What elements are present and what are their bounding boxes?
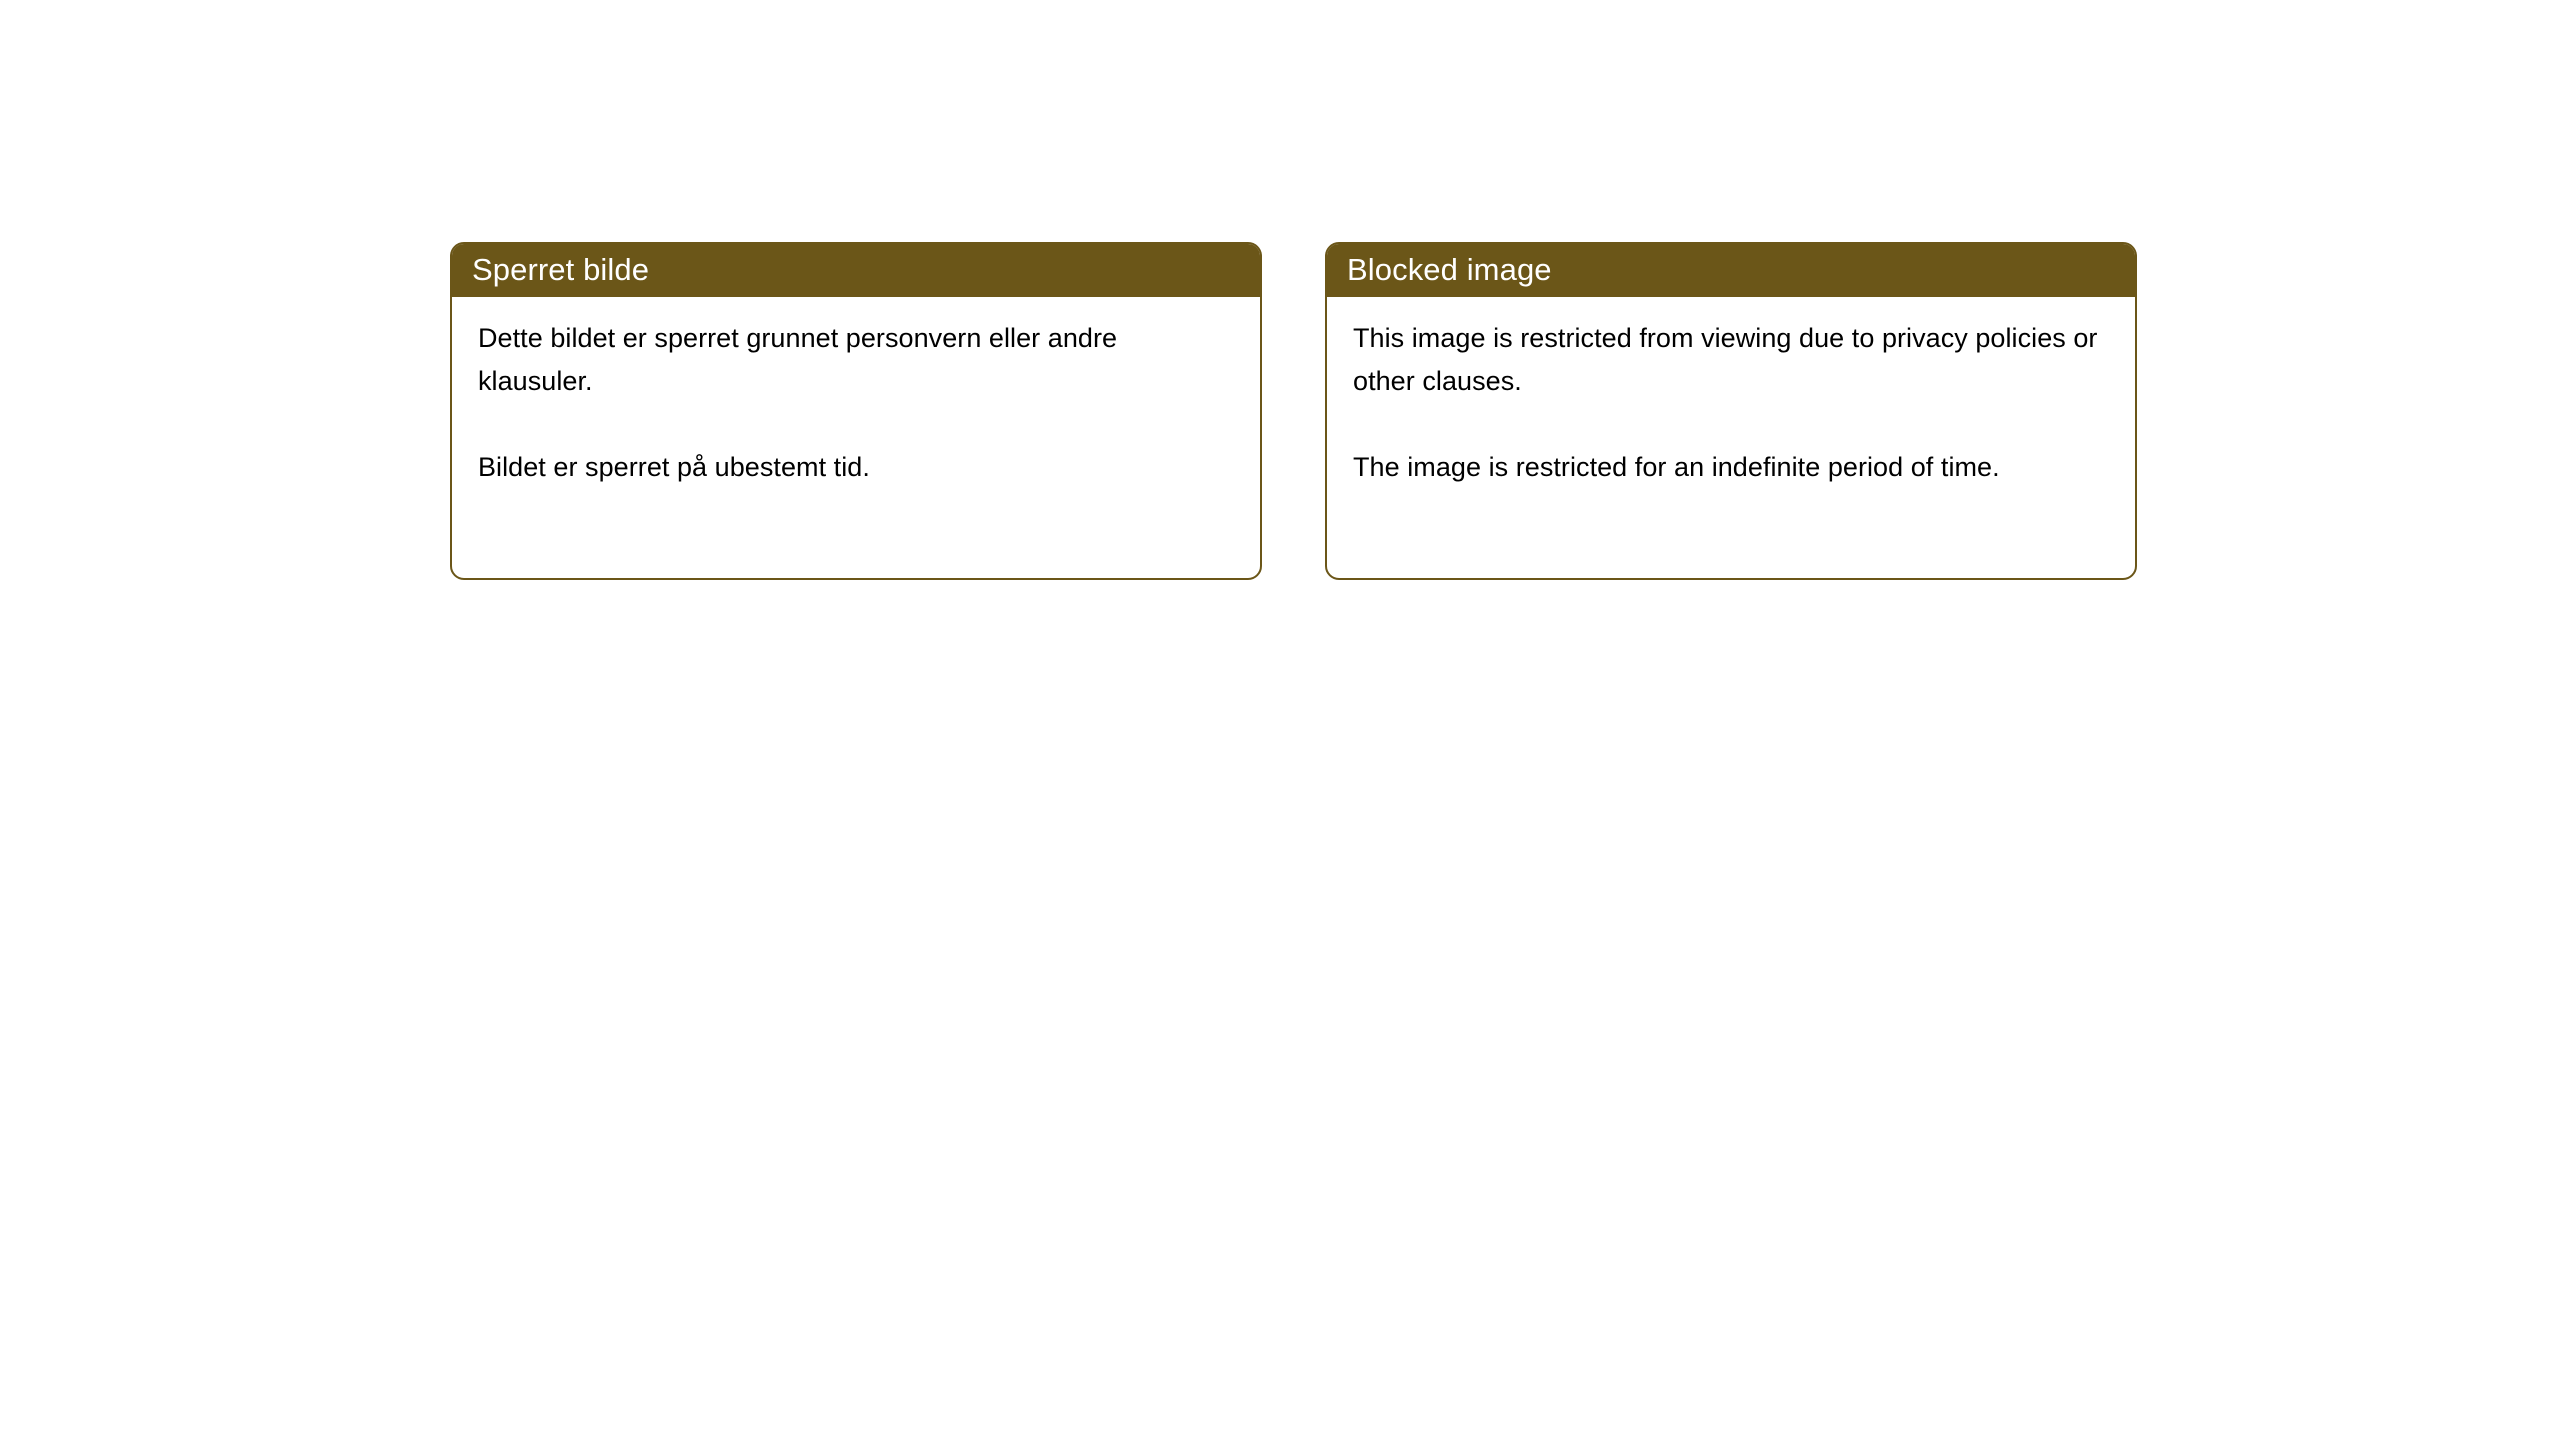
notice-card-header: Blocked image: [1325, 242, 2137, 297]
blocked-image-notice-card-norwegian: Sperret bilde Dette bildet er sperret gr…: [450, 242, 1262, 580]
notice-paragraph-duration: Bildet er sperret på ubestemt tid.: [478, 446, 1232, 489]
notice-card-body: This image is restricted from viewing du…: [1327, 297, 2135, 489]
page-canvas: Sperret bilde Dette bildet er sperret gr…: [0, 0, 2560, 1440]
notice-card-title: Blocked image: [1347, 254, 1552, 285]
notice-card-body: Dette bildet er sperret grunnet personve…: [452, 297, 1260, 489]
notice-paragraph-reason: Dette bildet er sperret grunnet personve…: [478, 317, 1232, 403]
notice-card-header: Sperret bilde: [450, 242, 1262, 297]
notice-paragraph-reason: This image is restricted from viewing du…: [1353, 317, 2107, 403]
notice-paragraph-duration: The image is restricted for an indefinit…: [1353, 446, 2107, 489]
blocked-image-notice-card-english: Blocked image This image is restricted f…: [1325, 242, 2137, 580]
notice-card-title: Sperret bilde: [472, 254, 649, 285]
